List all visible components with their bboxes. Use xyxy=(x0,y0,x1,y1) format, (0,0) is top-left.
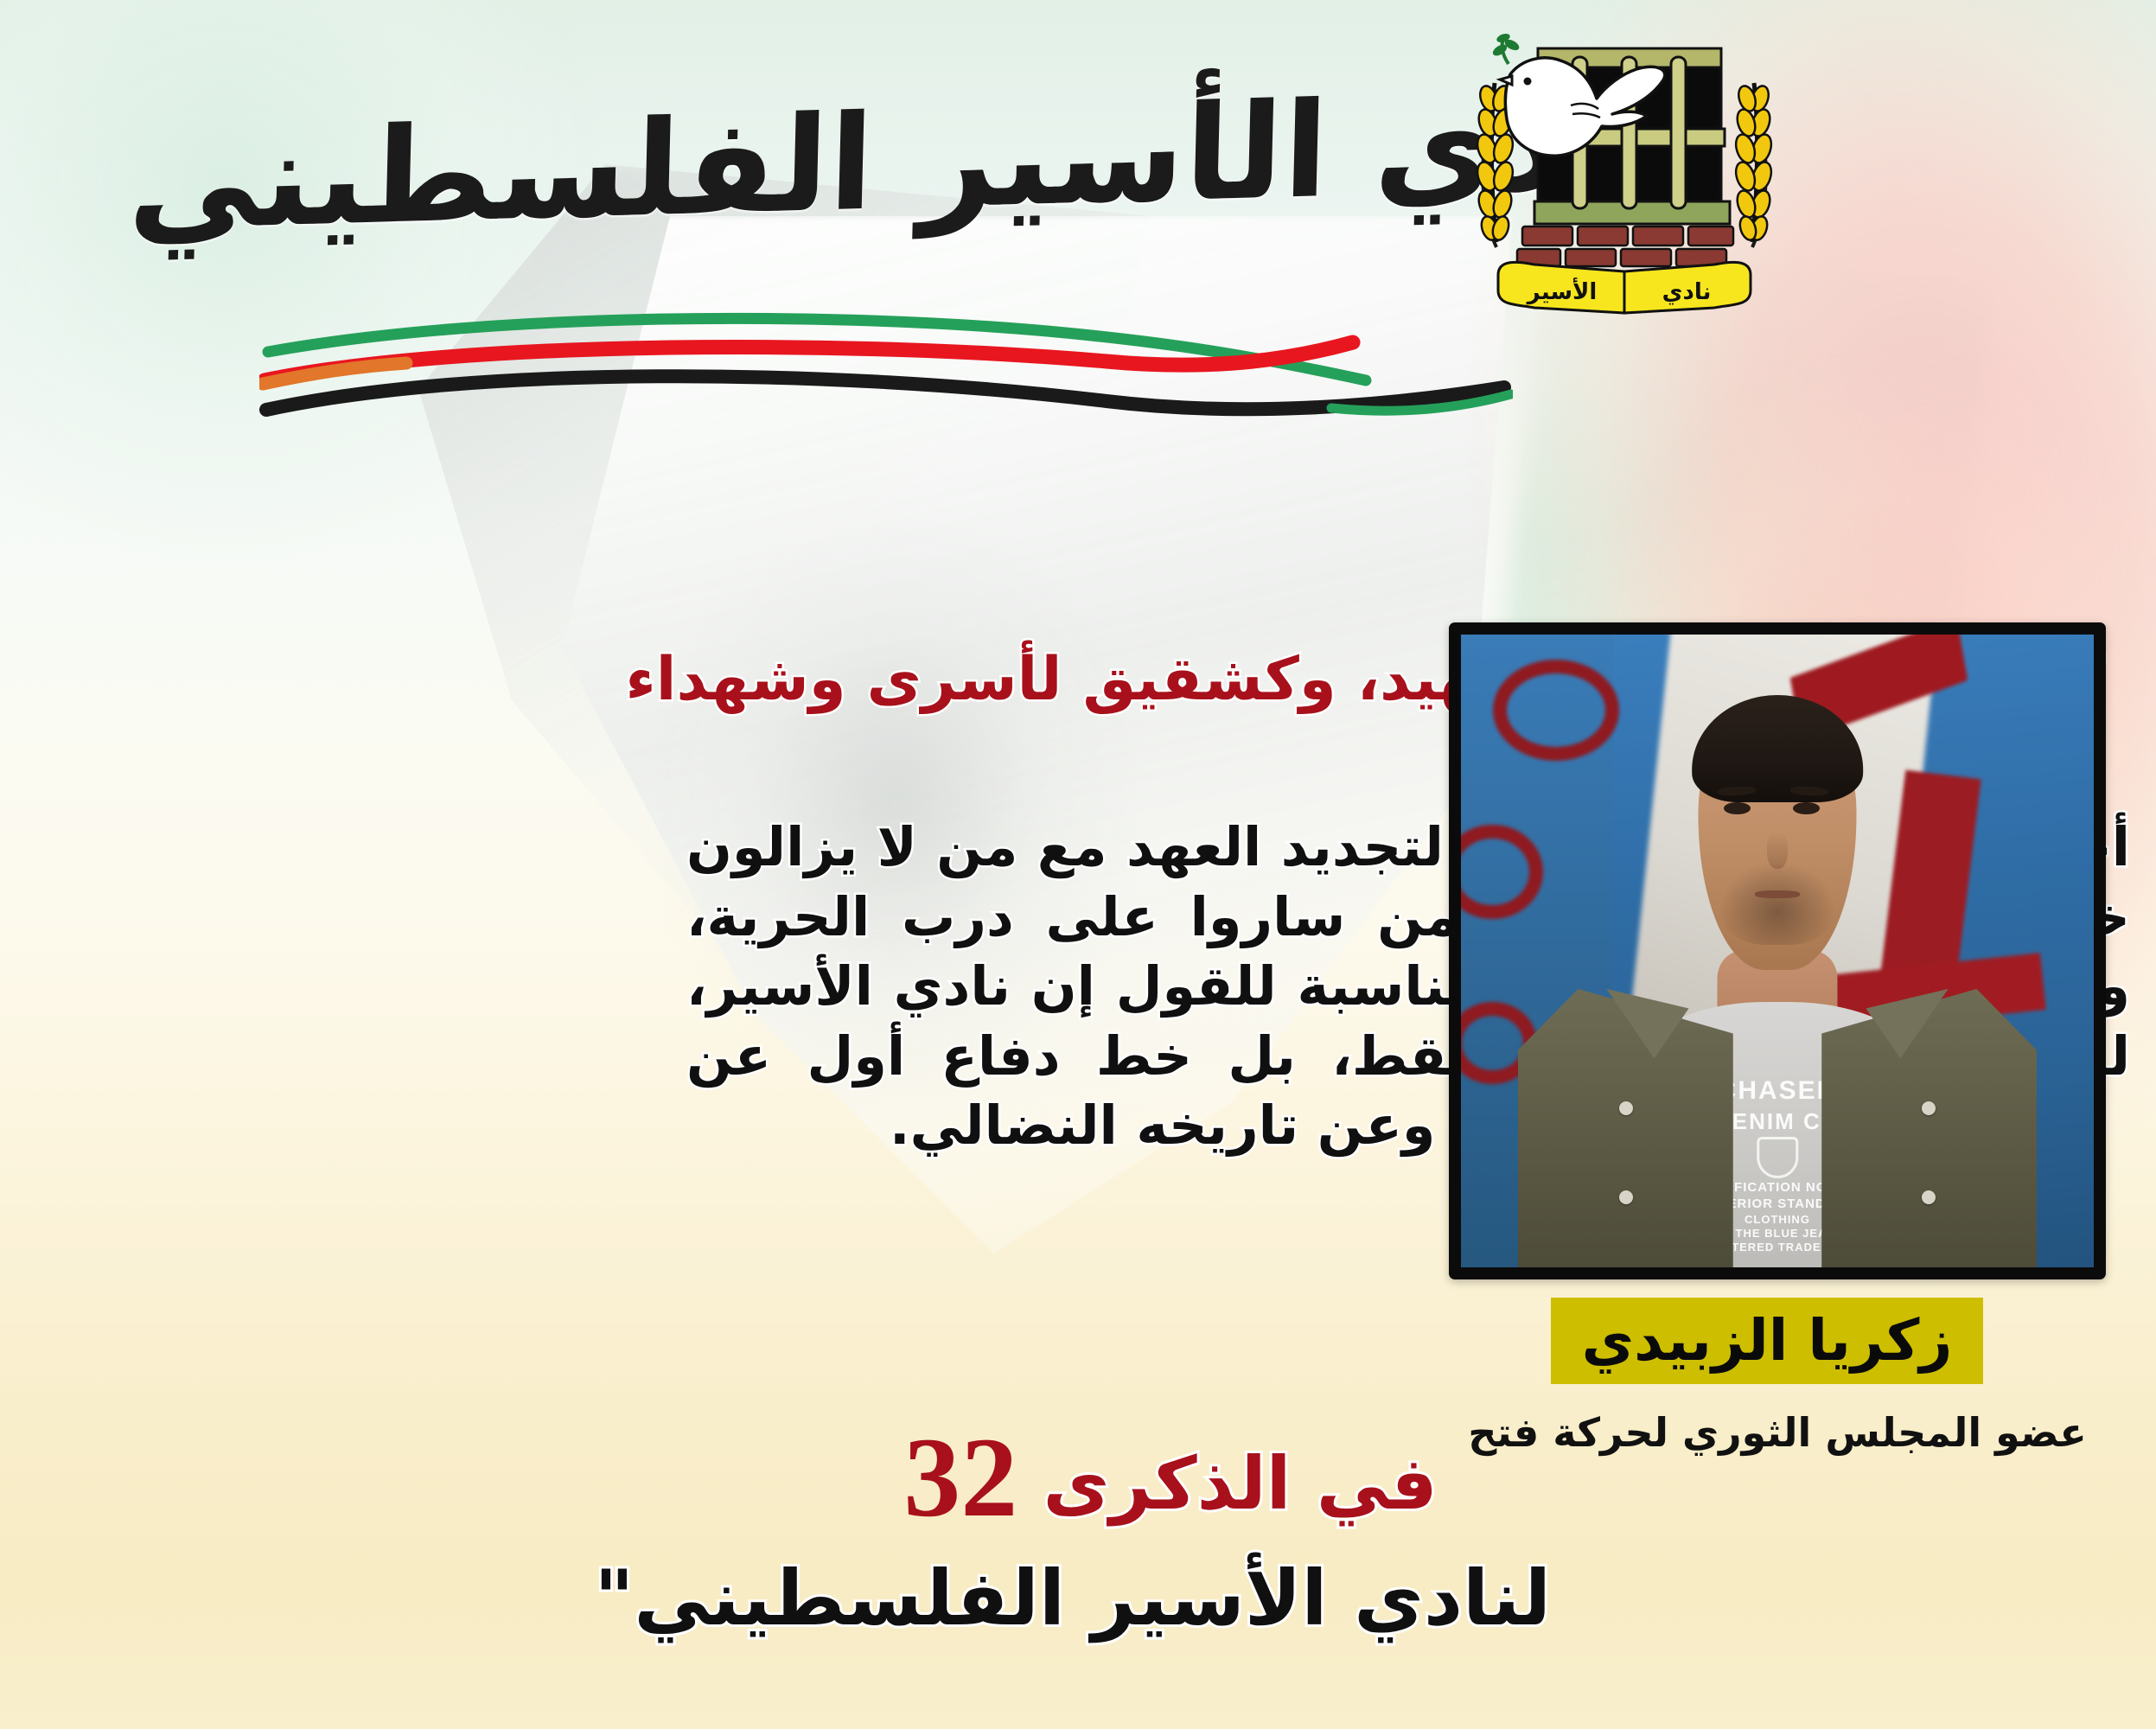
flag-swoosh-decoration xyxy=(259,304,1513,434)
portrait-eye-right xyxy=(1793,802,1820,814)
brick-wall-icon xyxy=(1517,226,1733,266)
jacket-button-4 xyxy=(1922,1190,1936,1204)
anniversary-subject: لنادي الأسير الفلسطيني" xyxy=(790,1557,1551,1639)
tshirt-crest-icon xyxy=(1757,1137,1798,1178)
prisoners-club-emblem: الأسير نادي xyxy=(1451,16,1797,361)
portrait-frame: CHASER DENIM CO SPECIFICATION NO.4812 SU… xyxy=(1449,622,2106,1279)
emblem-banner: الأسير نادي xyxy=(1498,262,1751,313)
anniversary-prefix: في الذكرى xyxy=(1043,1441,1438,1526)
anniversary-number: 32 xyxy=(903,1413,1017,1541)
portrait-beard xyxy=(1720,863,1834,945)
poster-canvas: نادي الأسير الفلسطيني xyxy=(0,0,2156,1729)
anniversary-line-1: في الذكرى 32 xyxy=(790,1418,1551,1538)
wheat-stalk-icon xyxy=(1732,83,1775,247)
person-name: زكريا الزبيدي xyxy=(1582,1312,1953,1369)
person-role: عضو المجلس الثوري لحركة فتح xyxy=(1449,1409,2106,1456)
anniversary-block: في الذكرى 32 لنادي الأسير الفلسطيني" xyxy=(790,1418,1551,1639)
portrait-mouth xyxy=(1755,890,1799,898)
organization-calligraphy-logo: نادي الأسير الفلسطيني xyxy=(342,29,1447,293)
person-name-banner: زكريا الزبيدي xyxy=(1551,1298,1983,1384)
portrait-eye-left xyxy=(1724,802,1751,814)
emblem-banner-text-left: الأسير xyxy=(1526,278,1598,305)
jacket-button-2 xyxy=(1619,1190,1633,1204)
portrait-photo: CHASER DENIM CO SPECIFICATION NO.4812 SU… xyxy=(1461,635,2094,1267)
portrait-jacket-right xyxy=(1821,989,2037,1267)
emblem-banner-text-right: نادي xyxy=(1662,279,1712,305)
graffiti-red-ring-1 xyxy=(1493,660,1619,761)
poster-header: نادي الأسير الفلسطيني xyxy=(0,0,2156,432)
portrait-jacket-left xyxy=(1518,989,1733,1267)
olive-branch-icon xyxy=(1491,32,1521,64)
